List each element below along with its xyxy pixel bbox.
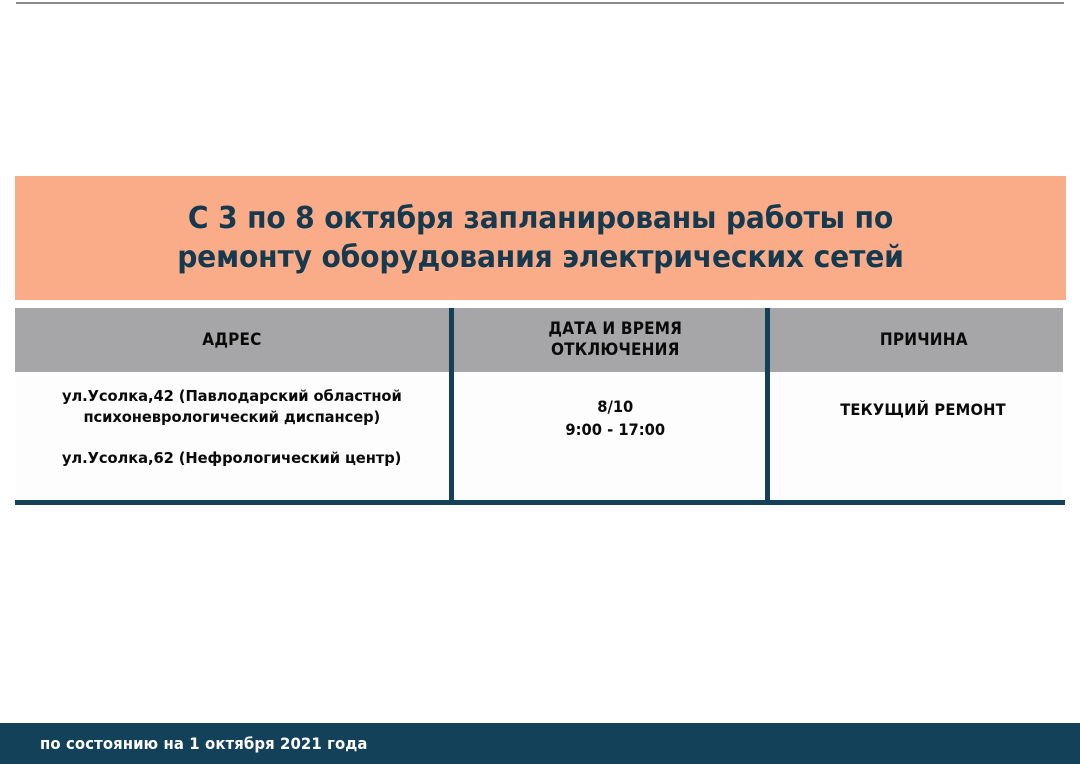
footer-status-text: по состоянию на 1 октября 2021 года <box>40 734 368 753</box>
outage-datetime: 8/10 9:00 - 17:00 <box>566 396 666 441</box>
column-divider-left <box>449 308 454 505</box>
column-header-reason-label: ПРИЧИНА <box>880 330 968 351</box>
top-divider-rule <box>16 2 1064 4</box>
column-header-address: АДРЕС <box>15 308 449 372</box>
column-header-reason: ПРИЧИНА <box>784 308 1063 372</box>
cell-reason: ТЕКУЩИЙ РЕМОНТ <box>784 372 1063 503</box>
column-header-address-label: АДРЕС <box>202 330 261 351</box>
cell-address: ул.Усолка,42 (Павлодарский областной пси… <box>15 372 449 503</box>
column-header-datetime-label: ДАТА И ВРЕМЯ ОТКЛЮЧЕНИЯ <box>549 319 683 360</box>
table-header-row: АДРЕС ДАТА И ВРЕМЯ ОТКЛЮЧЕНИЯ ПРИЧИНА <box>15 308 1063 372</box>
footer-bar: по состоянию на 1 октября 2021 года <box>0 723 1080 764</box>
table-bottom-rule <box>15 500 1065 505</box>
slide-canvas: С 3 по 8 октября запланированы работы по… <box>0 0 1080 764</box>
column-divider-right <box>765 308 770 505</box>
table-row: ул.Усолка,42 (Павлодарский областной пси… <box>15 372 1063 503</box>
title-banner: С 3 по 8 октября запланированы работы по… <box>15 176 1066 300</box>
address-entry-primary: ул.Усолка,42 (Павлодарский областной пси… <box>62 386 402 428</box>
column-header-datetime: ДАТА И ВРЕМЯ ОТКЛЮЧЕНИЯ <box>453 308 778 372</box>
page-title: С 3 по 8 октября запланированы работы по… <box>177 199 904 277</box>
outage-reason: ТЕКУЩИЙ РЕМОНТ <box>841 400 1007 421</box>
outage-table: АДРЕС ДАТА И ВРЕМЯ ОТКЛЮЧЕНИЯ ПРИЧИНА ул… <box>15 308 1066 508</box>
address-entry-secondary: ул.Усолка,62 (Нефрологический центр) <box>62 448 401 469</box>
cell-datetime: 8/10 9:00 - 17:00 <box>453 372 778 503</box>
